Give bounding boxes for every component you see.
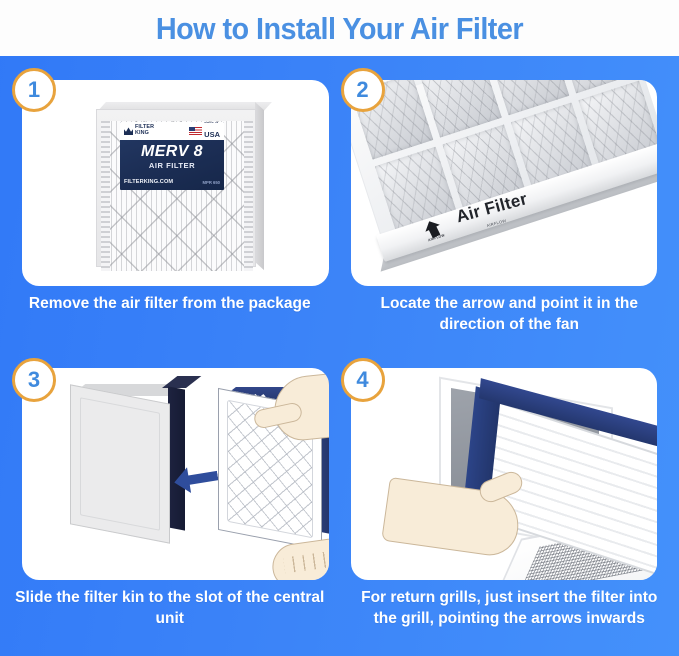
crown-icon: [124, 127, 133, 135]
step-caption-2: Locate the arrow and point it in the dir…: [340, 294, 679, 336]
filter-into-central-unit-illustration: [22, 368, 329, 580]
filter-king-logo: FILTER KING: [124, 125, 154, 136]
made-in-text: MADE IN: [204, 122, 220, 124]
label-header-row: FILTER KING MADE IN USA: [120, 122, 224, 140]
central-unit-housing: [70, 378, 188, 538]
product-subtitle: AIR FILTER: [120, 162, 224, 170]
label-footer-row: FILTERKING.COM MPR 650: [124, 179, 220, 185]
air-filter-product-photo: FILTER KING MADE IN USA: [22, 80, 329, 286]
step-number-badge-4: 4: [341, 358, 385, 402]
step-caption-3: Slide the filter kin to the slot of the …: [0, 588, 340, 630]
merv-rating: MERV 8: [120, 144, 224, 160]
insert-direction-arrow-icon: [174, 466, 218, 492]
filter-into-return-grill-illustration: [351, 368, 658, 580]
step-number-badge-3: 3: [12, 358, 56, 402]
website-text: FILTERKING.COM: [124, 179, 173, 185]
filter-right-edge: [255, 102, 264, 270]
step-card-3: 3: [0, 356, 340, 656]
step-number-badge-2: 2: [341, 68, 385, 112]
title-bar: How to Install Your Air Filter: [0, 0, 679, 56]
step-image-card-3: [22, 368, 329, 580]
country-text: USA: [204, 130, 220, 139]
step-image-card-1: FILTER KING MADE IN USA: [22, 80, 329, 286]
filter-corner-body: AIRFLOW Air Filter AIRFLOW: [351, 80, 658, 286]
step-image-card-2: AIRFLOW Air Filter AIRFLOW: [351, 80, 658, 286]
step-caption-1: Remove the air filter from the package: [0, 294, 340, 315]
unit-front-inset: [80, 397, 160, 531]
step-number-badge-1: 1: [12, 68, 56, 112]
filter-corner-photo: AIRFLOW Air Filter AIRFLOW: [351, 80, 658, 286]
unit-slot-dark: [168, 386, 185, 530]
step-image-card-4: [351, 368, 658, 580]
infographic-root: How to Install Your Air Filter 1: [0, 0, 679, 656]
filter-pleat-left: [101, 121, 110, 271]
step-card-4: 4 For r: [340, 356, 679, 656]
steps-grid: 1: [0, 56, 679, 656]
step-card-1: 1: [0, 56, 340, 356]
mpr-text: MPR 650: [203, 180, 220, 185]
page-title: How to Install Your Air Filter: [156, 13, 523, 44]
made-in-usa-text: MADE IN USA: [204, 122, 220, 142]
filter-pleat-right: [244, 121, 253, 271]
brand-name: FILTER KING: [135, 125, 154, 136]
filter-frame: FILTER KING MADE IN USA: [96, 109, 256, 267]
airflow-arrows-icon: [563, 386, 581, 399]
brand-line-2: KING: [135, 130, 149, 136]
us-flag-icon: [189, 127, 202, 135]
made-in-usa: MADE IN USA: [189, 122, 220, 142]
unit-front-face: [70, 384, 170, 543]
step-caption-4: For return grills, just insert the filte…: [340, 588, 679, 630]
step-card-2: 2: [340, 56, 679, 356]
filter-product-label: FILTER KING MADE IN USA: [120, 122, 224, 190]
filter-photo-1: FILTER KING MADE IN USA: [96, 102, 262, 267]
